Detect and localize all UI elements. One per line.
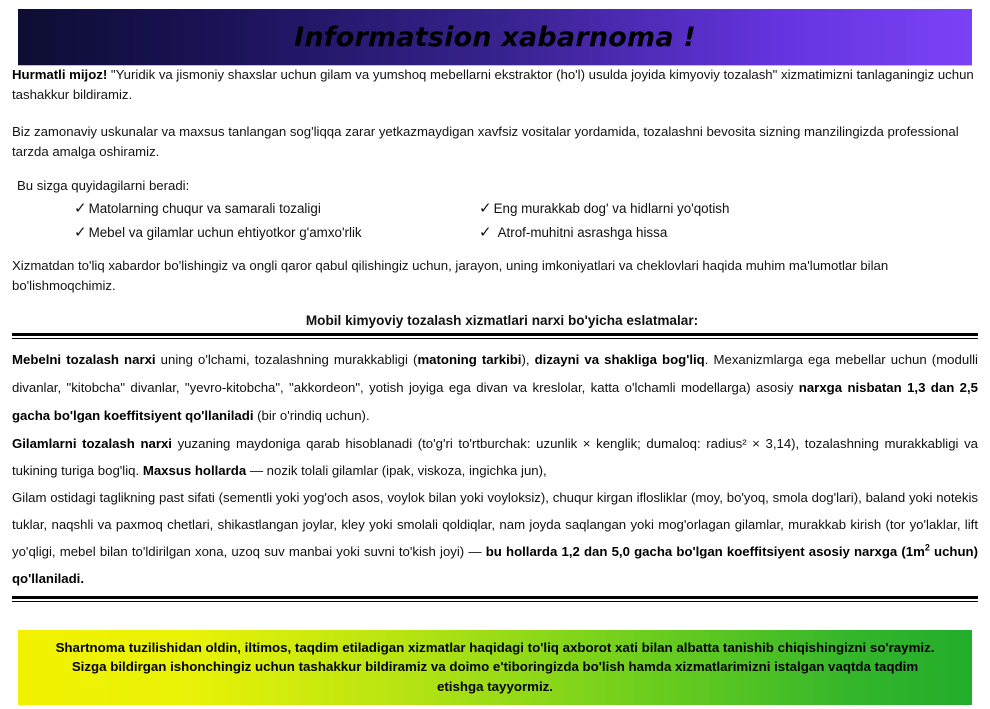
check-icon: ✓ [479, 225, 492, 240]
banner-title: Informatsion xabarnoma ! [294, 22, 696, 53]
footer-banner: Shartnoma tuzilishidan oldin, iltimos, t… [18, 630, 972, 706]
note-furniture-b2: dizayni va shakliga bog'liq [535, 352, 705, 367]
benefits-list: ✓ Matolarning chuqur va samarali tozalig… [12, 198, 978, 243]
benefit-label: Mebel va gilamlar uchun ehtiyotkor g'amx… [89, 222, 362, 243]
document-body: Hurmatli mijoz! "Yuridik va jismoniy sha… [0, 65, 990, 602]
document-page: Informatsion xabarnoma ! Hurmatli mijoz!… [0, 9, 990, 709]
greeting-rest: "Yuridik va jismoniy shaxslar uchun gila… [12, 67, 974, 102]
note-carpet: Gilamlarni tozalash narxi yuzaning maydo… [12, 430, 978, 484]
list-item: ✓ Mebel va gilamlar uchun ehtiyotkor g'a… [74, 222, 479, 243]
list-item: ✓ Atrof-muhitni asrashga hissa [479, 222, 978, 243]
spacer [12, 105, 978, 122]
awareness-paragraph: Xizmatdan to'liq xabardor bo'lishingiz v… [12, 256, 978, 296]
greeting-bold: Hurmatli mijoz! [12, 67, 107, 82]
spacer [12, 296, 978, 311]
benefits-lead: Bu sizga quyidagilarni beradi: [12, 176, 978, 196]
note-furniture-t2: ), [521, 352, 534, 367]
benefit-label: Eng murakkab dog' va hidlarni yo'qotish [494, 198, 730, 219]
note-furniture: Mebelni tozalash narxi uning o'lchami, t… [12, 346, 978, 430]
list-item: ✓ Eng murakkab dog' va hidlarni yo'qotis… [479, 198, 978, 219]
note-furniture-t1: uning o'lchami, tozalashning murakkablig… [156, 352, 418, 367]
list-item: ✓ Matolarning chuqur va samarali tozalig… [74, 198, 479, 219]
check-icon: ✓ [74, 225, 87, 240]
note-carpet-lead: Gilamlarni tozalash narxi [12, 436, 172, 451]
pricing-notes: Mebelni tozalash narxi uning o'lchami, t… [12, 346, 978, 592]
section-divider-top [12, 333, 978, 339]
benefit-label: Matolarning chuqur va samarali tozaligi [89, 198, 321, 219]
footer-text: Shartnoma tuzilishidan oldin, iltimos, t… [48, 638, 942, 697]
note-carpet-t2: — nozik tolali gilamlar (ipak, viskoza, … [246, 463, 547, 478]
header-banner: Informatsion xabarnoma ! [18, 9, 972, 65]
note-conditions-b1-pre: bu hollarda 1,2 dan 5,0 gacha bo'lgan ko… [486, 544, 925, 559]
intro-paragraph-2: Biz zamonaviy uskunalar va maxsus tanlan… [12, 122, 978, 162]
note-furniture-t4: (bir o'rindiq uchun). [253, 408, 369, 423]
note-carpet-b1: Maxsus hollarda [143, 463, 246, 478]
spacer [12, 162, 978, 176]
note-furniture-b1: matoning tarkibi [417, 352, 521, 367]
note-conditions: Gilam ostidagi taglikning past sifati (s… [12, 484, 978, 592]
check-icon: ✓ [74, 201, 87, 216]
spacer [12, 243, 978, 256]
note-furniture-lead: Mebelni tozalash narxi [12, 352, 156, 367]
section-divider-bottom [12, 596, 978, 602]
benefit-label: Atrof-muhitni asrashga hissa [498, 222, 668, 243]
section-title: Mobil kimyoviy tozalash xizmatlari narxi… [12, 311, 978, 330]
intro-paragraph-1: Hurmatli mijoz! "Yuridik va jismoniy sha… [12, 65, 978, 105]
check-icon: ✓ [479, 201, 492, 216]
